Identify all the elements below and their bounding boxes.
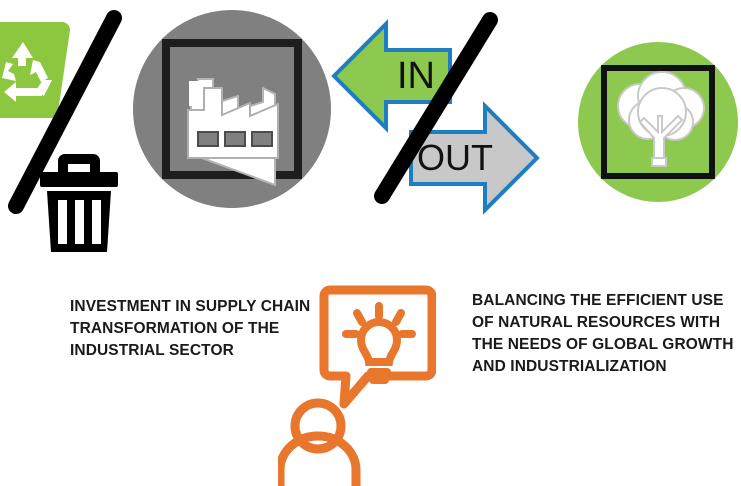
lightbulb-icon [346, 306, 412, 380]
infographic-canvas: IN OUT [0, 0, 741, 486]
factory-icon [133, 10, 331, 208]
caption-right-line-2: OF NATURAL RESOURCES WITH [472, 312, 734, 334]
slash-divider-right-icon [370, 10, 502, 206]
caption-right: BALANCING THE EFFICIENT USE OF NATURAL R… [472, 290, 734, 378]
person-body-icon [280, 436, 356, 486]
person-with-lightbulb-icon [278, 274, 436, 486]
caption-right-line-1: BALANCING THE EFFICIENT USE [472, 290, 734, 312]
tree-icon [578, 42, 738, 202]
caption-right-line-3: THE NEEDS OF GLOBAL GROWTH [472, 334, 734, 356]
caption-right-line-4: AND INDUSTRIALIZATION [472, 356, 734, 378]
slash-divider-left-icon [6, 8, 126, 216]
